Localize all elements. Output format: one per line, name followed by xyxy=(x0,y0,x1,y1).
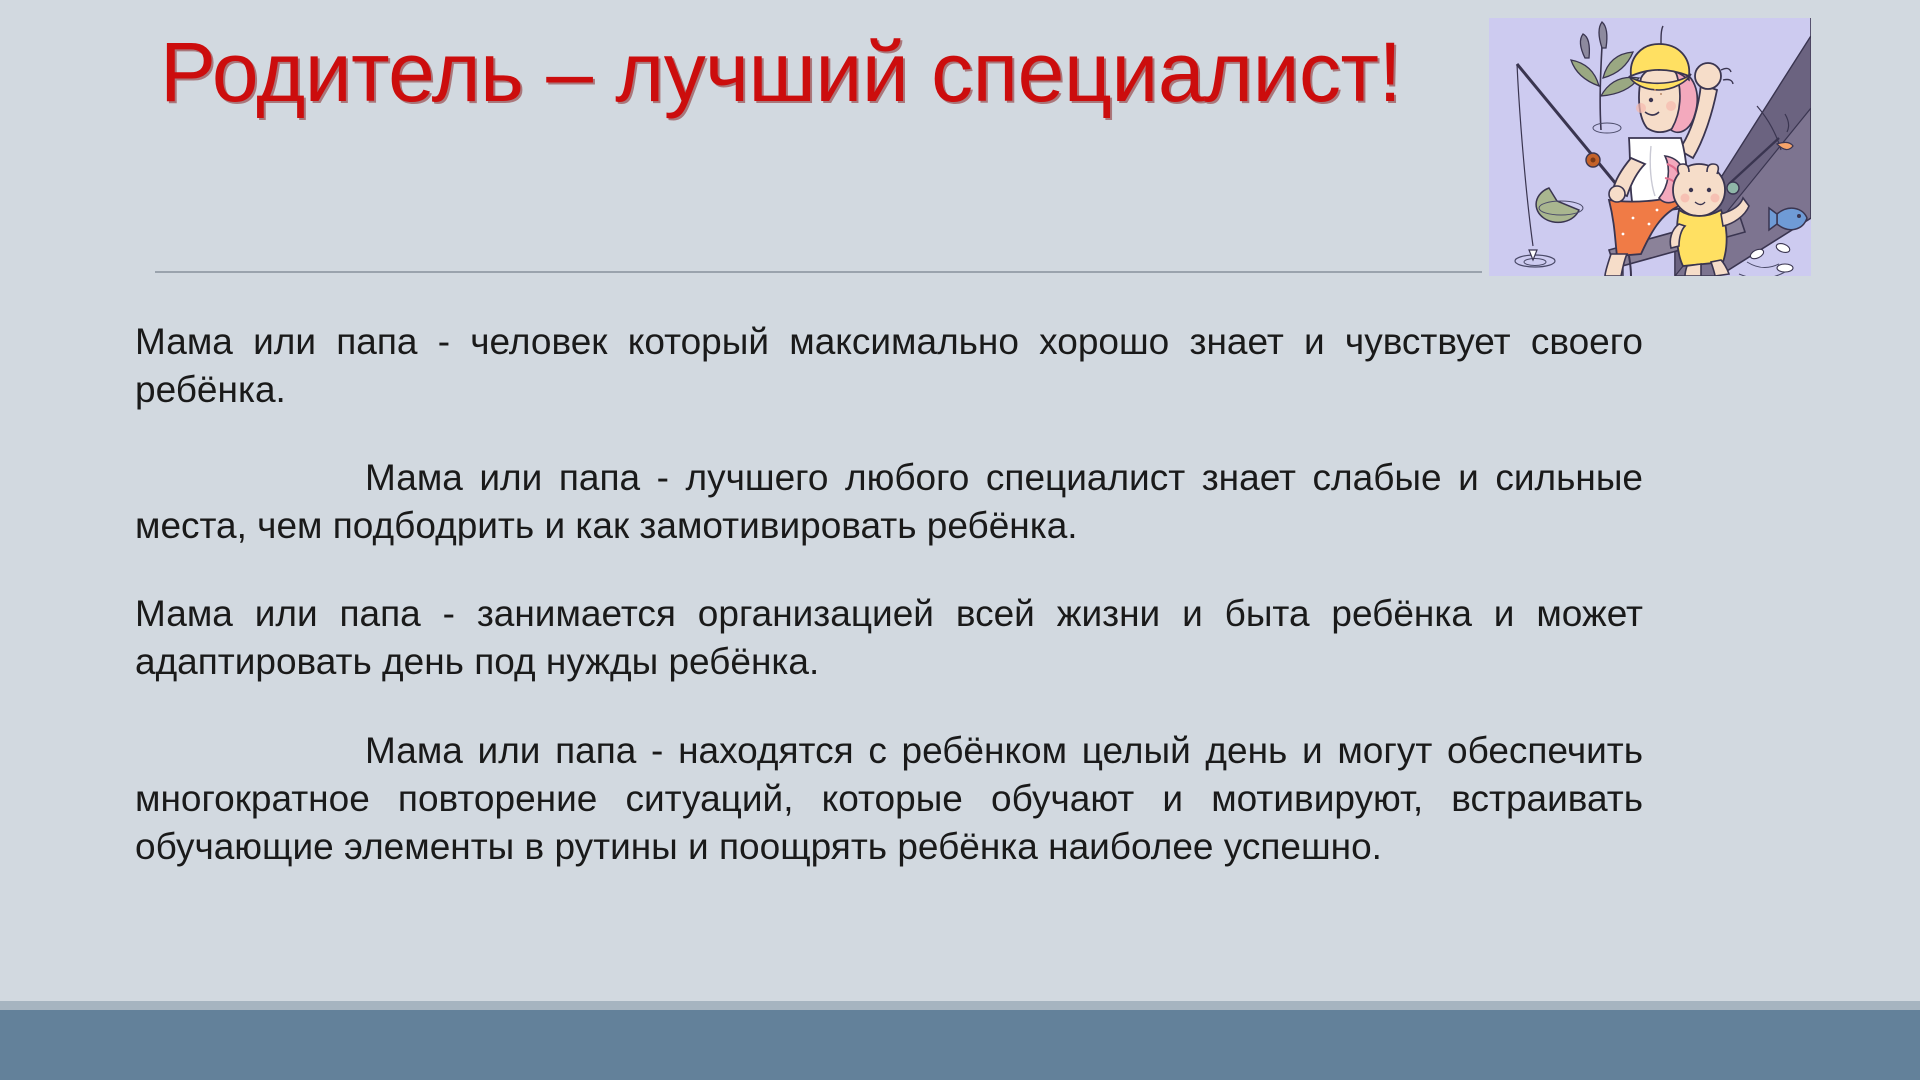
slide: Родитель – лучший специалист! xyxy=(0,0,1920,1080)
paragraph-1: Мама или папа - человек который максимал… xyxy=(135,318,1643,414)
title-divider xyxy=(155,271,1482,273)
slide-body-text: Мама или папа - человек который максимал… xyxy=(135,318,1643,871)
paragraph-2: Мама или папа - лучшего любого специалис… xyxy=(135,454,1643,550)
footer-dark-band xyxy=(0,1010,1920,1080)
footer-light-band xyxy=(0,1001,1920,1010)
page-title: Родитель – лучший специалист! xyxy=(160,28,1460,116)
paragraph-4: Мама или папа - находятся с ребёнком цел… xyxy=(135,727,1643,871)
mother-and-baby-fishing-illustration xyxy=(1489,18,1811,276)
paragraph-3: Мама или папа - занимается организацией … xyxy=(135,590,1643,686)
